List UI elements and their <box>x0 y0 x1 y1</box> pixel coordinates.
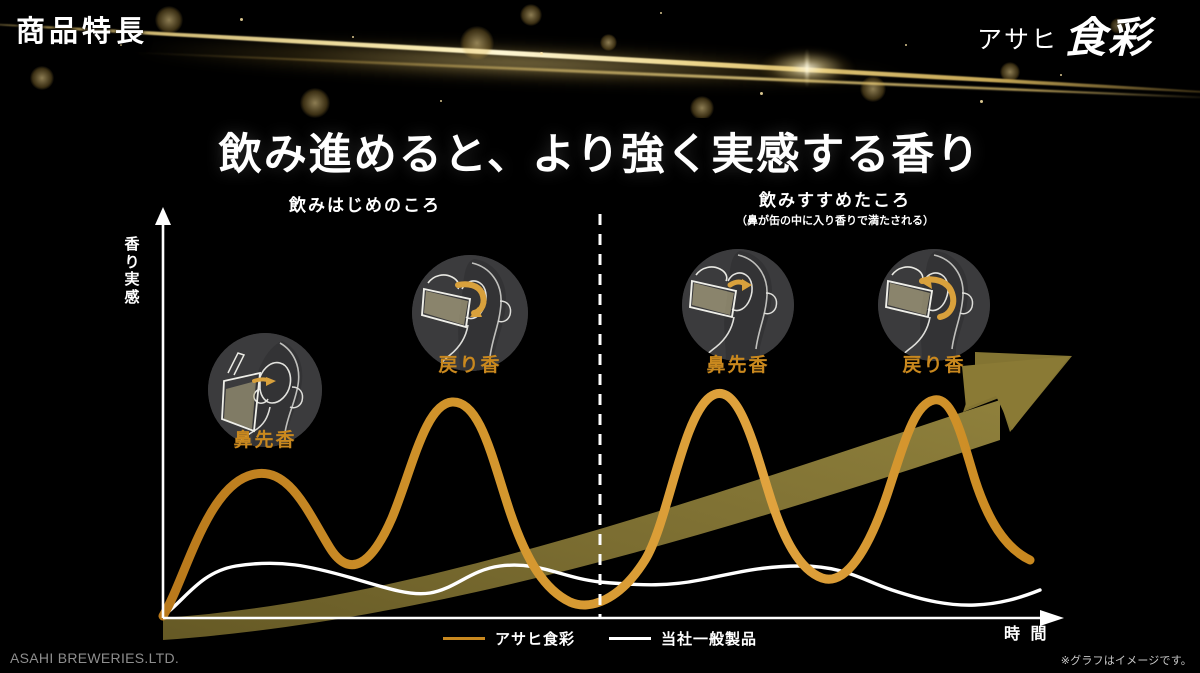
person-drinking-can-icon <box>682 249 794 361</box>
legend-item-general-product[interactable]: 当社一般製品 <box>609 628 757 649</box>
marker-thumb-right-modorika[interactable] <box>878 249 990 361</box>
footer-disclaimer: ※グラフはイメージです。 <box>1061 652 1192 668</box>
legend-swatch-white <box>609 637 651 640</box>
person-drinking-can-retronasal-icon <box>878 249 990 361</box>
marker-label-right-hanasakika: 鼻先香 <box>668 350 808 377</box>
marker-label-right-modorika: 戻り香 <box>864 350 1004 377</box>
marker-label-text: 鼻先香 <box>706 355 769 376</box>
slide-root: 商品特長 アサヒ 食彩 飲み進めると、より強く実感する香り 飲みはじめのころ 飲… <box>0 0 1200 673</box>
marker-label-left-modorika: 戻り香 <box>400 350 540 377</box>
marker-label-text: 戻り香 <box>902 355 965 376</box>
legend-label: 当社一般製品 <box>661 628 757 649</box>
legend-label: アサヒ食彩 <box>495 628 575 649</box>
marker-label-left-hanasakika: 鼻先香 <box>195 425 335 452</box>
chart-legend: アサヒ食彩 当社一般製品 <box>0 628 1200 649</box>
marker-label-text: 戻り香 <box>438 355 501 376</box>
legend-item-asahi-shokusai[interactable]: アサヒ食彩 <box>443 628 575 649</box>
marker-thumb-right-hanasakika[interactable] <box>682 249 794 361</box>
footer-company: ASAHI BREWERIES.LTD. <box>10 650 179 666</box>
marker-label-text: 鼻先香 <box>233 430 296 451</box>
legend-swatch-gold <box>443 637 485 640</box>
aroma-chart <box>0 0 1200 673</box>
y-axis-label: 香り実感 <box>122 236 142 307</box>
